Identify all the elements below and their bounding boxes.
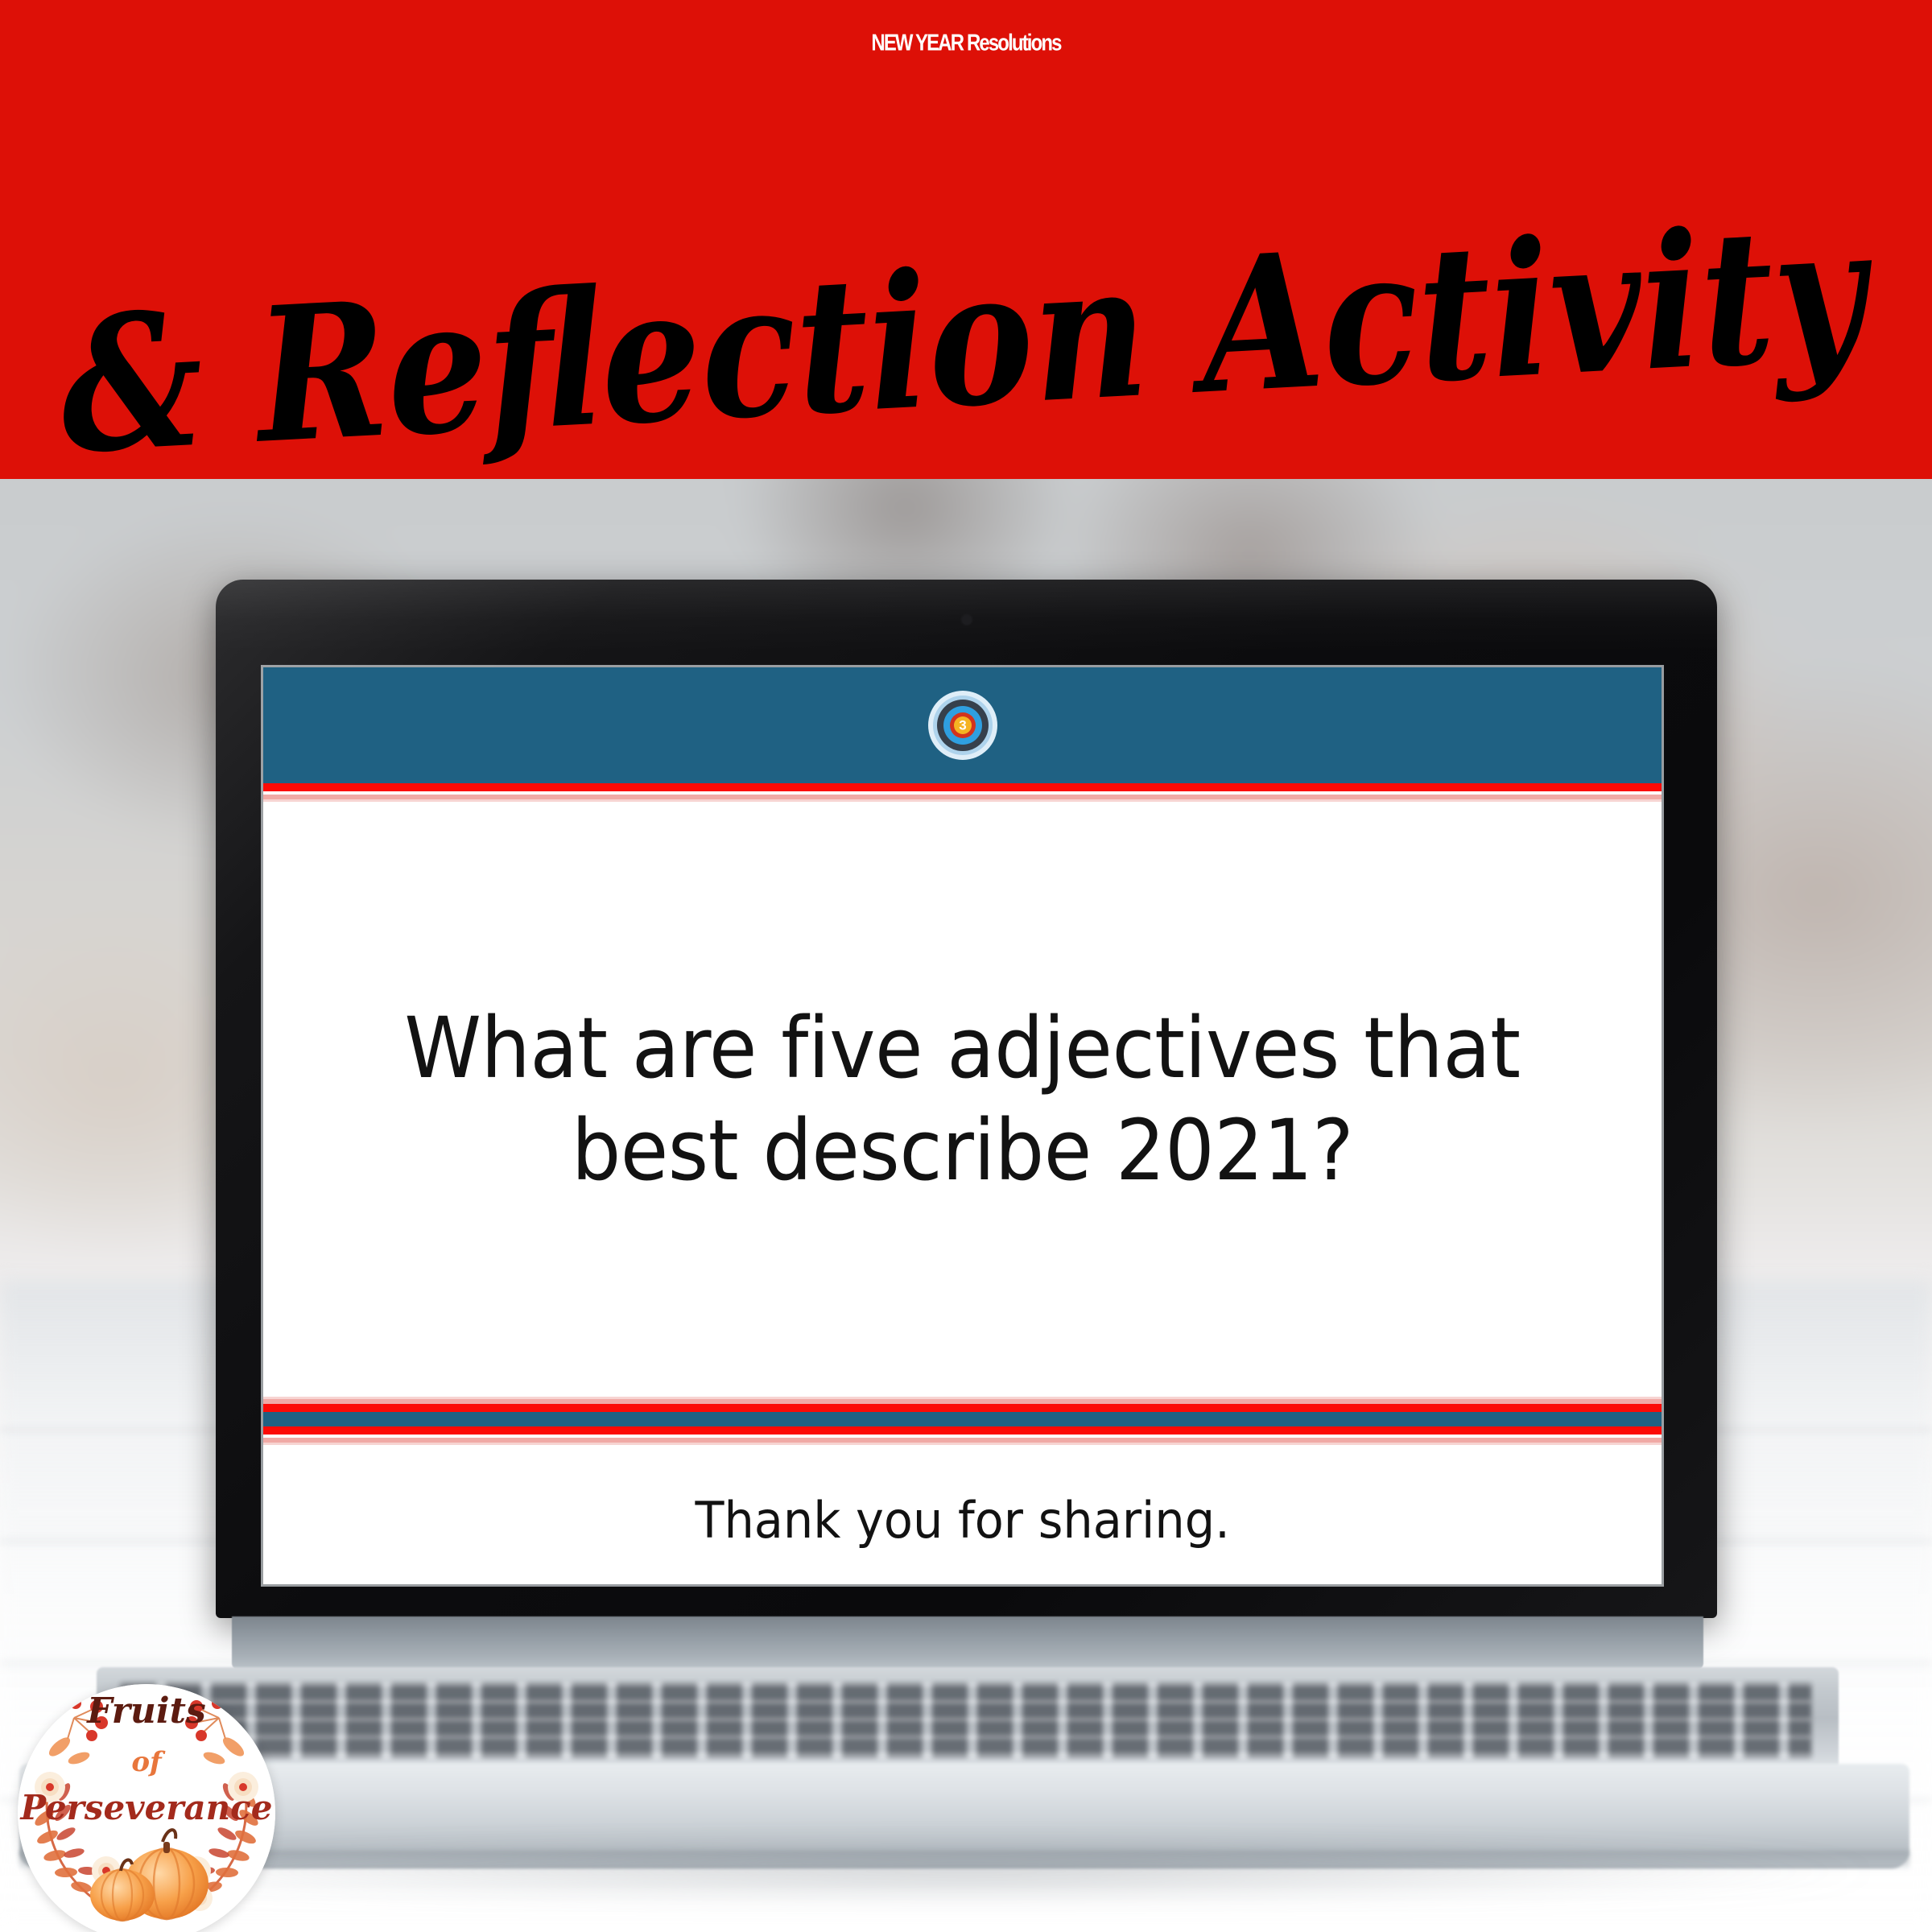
laptop-keyboard-rows: [121, 1683, 1811, 1757]
logo-line-2: of: [131, 1746, 166, 1778]
answer-prompt-text: Thank you for sharing.: [695, 1493, 1229, 1548]
title-banner: NEW YEAR Resolutions: [0, 0, 1932, 479]
answer-panel: Thank you for sharing.: [263, 1445, 1662, 1584]
logo-line-3: Perseverance: [20, 1788, 273, 1827]
brand-logo-watermark: Fruits of Perseverance: [18, 1684, 275, 1932]
bullseye-number: 3: [959, 718, 966, 733]
banner-title-primary: NEW YEAR Resolutions: [77, 31, 1855, 54]
divider-mid: [263, 1397, 1662, 1445]
logo-line-1: Fruits: [85, 1690, 205, 1732]
question-text: What are five adjectives that best descr…: [356, 997, 1570, 1202]
screenshot-canvas: 3 What are five adjectives that best des…: [0, 0, 1932, 1932]
webcam-icon: [962, 615, 972, 625]
target-bullseye-icon: 3: [927, 690, 998, 761]
laptop-shadow: [56, 1847, 1876, 1896]
divider-under-header: [263, 783, 1662, 802]
laptop-mockup: 3 What are five adjectives that best des…: [0, 479, 1932, 1932]
slide-screen: 3 What are five adjectives that best des…: [263, 667, 1662, 1584]
laptop-hinge: [232, 1616, 1703, 1670]
slide-header-band: 3: [263, 667, 1662, 783]
question-panel: What are five adjectives that best descr…: [263, 802, 1662, 1397]
